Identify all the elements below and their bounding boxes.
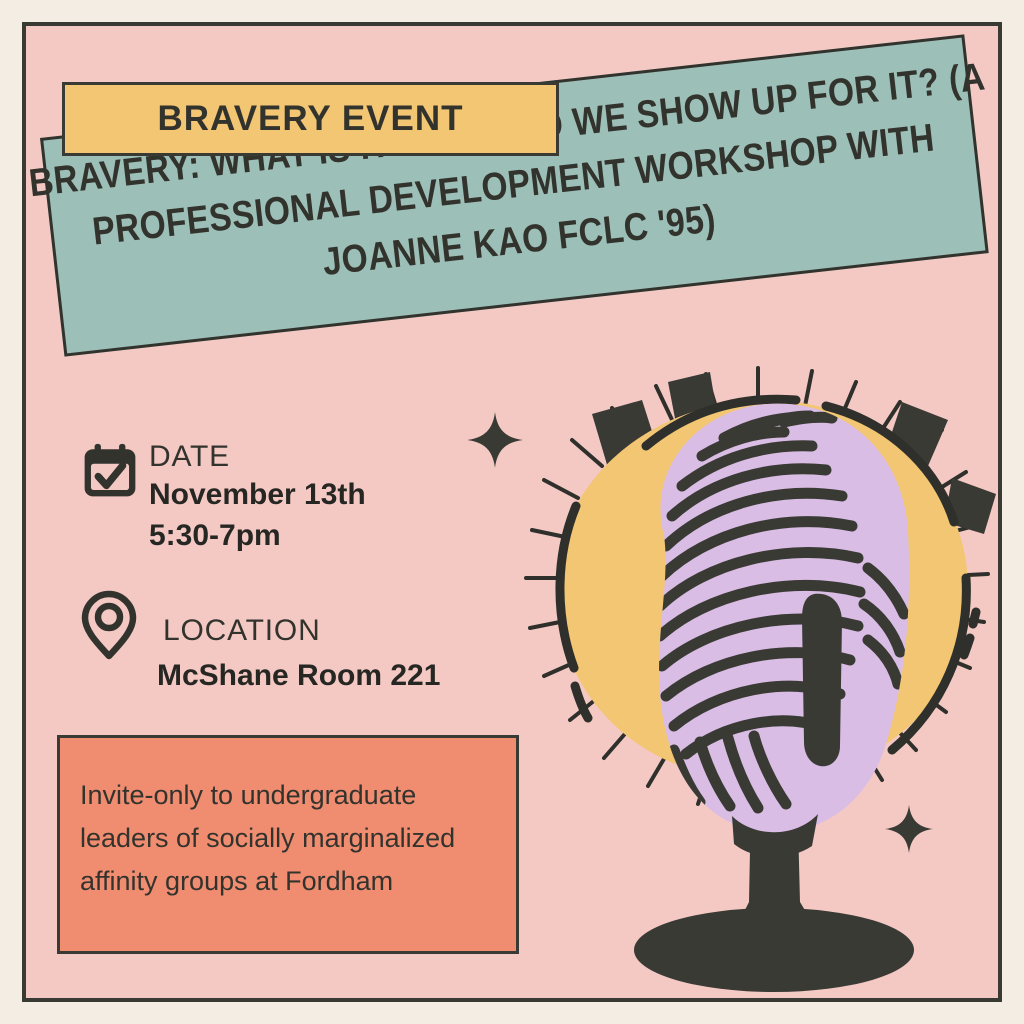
eligibility-note-text: Invite-only to undergraduate leaders of … [80, 774, 490, 904]
event-type-badge: BRAVERY EVENT [62, 82, 559, 156]
calendar-check-icon [81, 438, 149, 500]
event-date-text: DATE November 13th 5:30-7pm [149, 438, 366, 556]
date-value-line-1: November 13th [149, 476, 366, 514]
event-details-block: DATE November 13th 5:30-7pm LOCATION McS… [81, 438, 511, 725]
microphone-base [634, 908, 914, 992]
poster-inner-frame: BRAVERY EVENT BRAVERY: WHAT IS IT? HOW D… [22, 22, 1002, 1002]
event-location-text: LOCATION McShane Room 221 [149, 586, 440, 695]
map-pin-icon [81, 586, 149, 660]
date-kicker: DATE [149, 440, 366, 473]
note-line-1: Invite-only to undergraduate [80, 774, 490, 817]
vintage-microphone-illustration [496, 346, 1002, 1002]
eligibility-note-box: Invite-only to undergraduate leaders of … [57, 735, 519, 954]
event-location-row: LOCATION McShane Room 221 [81, 586, 511, 695]
note-line-3: affinity groups at Fordham [80, 860, 490, 903]
event-type-badge-label: BRAVERY EVENT [157, 99, 463, 139]
location-value: McShane Room 221 [157, 657, 440, 695]
event-date-row: DATE November 13th 5:30-7pm [81, 438, 511, 556]
date-value-line-2: 5:30-7pm [149, 517, 366, 555]
microphone-side-handle [802, 594, 842, 767]
event-poster: BRAVERY EVENT BRAVERY: WHAT IS IT? HOW D… [0, 0, 1024, 1024]
location-kicker: LOCATION [163, 588, 440, 647]
four-point-sparkle-icon-secondary [884, 804, 934, 854]
note-line-2: leaders of socially marginalized [80, 817, 490, 860]
